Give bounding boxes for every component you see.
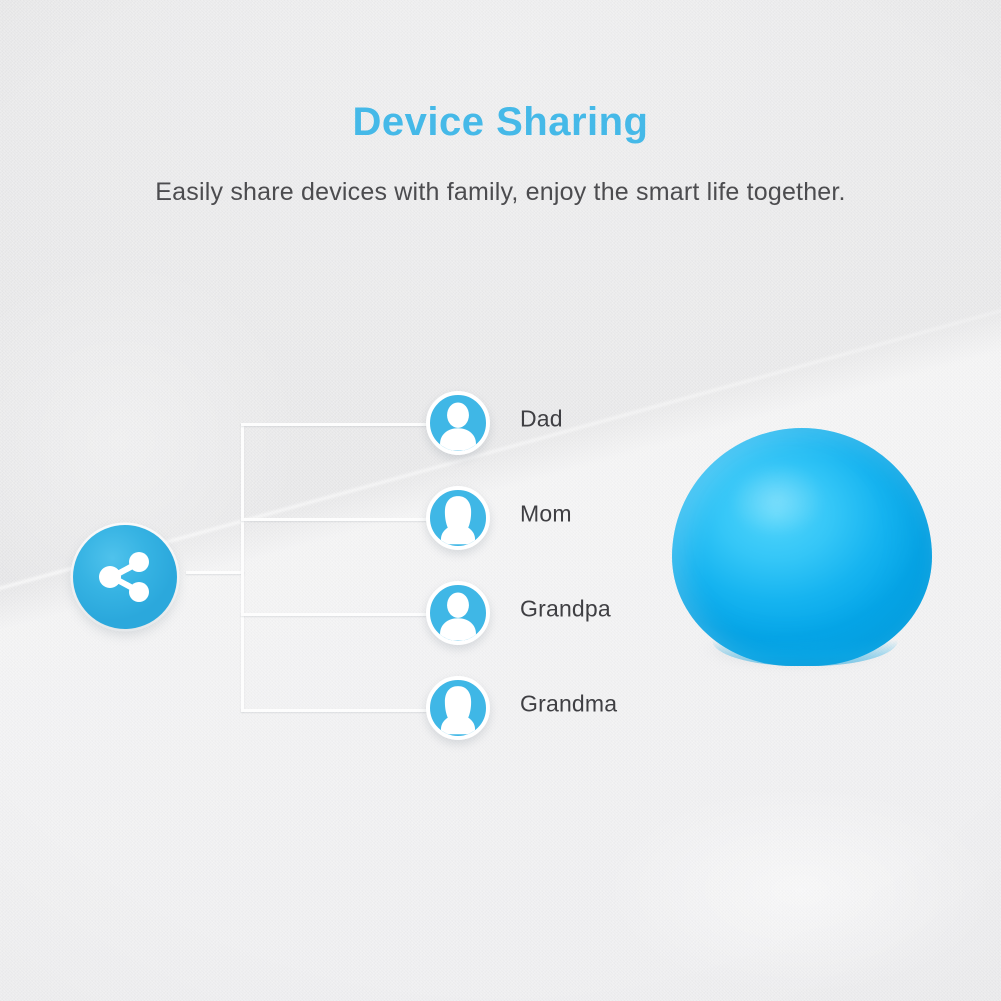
connector-trunk <box>241 423 244 711</box>
avatar-grandpa[interactable] <box>426 581 490 645</box>
share-hub-button[interactable] <box>73 525 177 629</box>
smart-ball-lamp <box>668 420 936 675</box>
connector-branch-grandpa <box>241 613 431 616</box>
avatar-label-grandma: Grandma <box>520 691 617 718</box>
avatar-grandma[interactable] <box>426 676 490 740</box>
connector-branch-dad <box>241 423 431 426</box>
avatar-dad[interactable] <box>426 391 490 455</box>
promo-banner: Device Sharing Easily share devices with… <box>0 0 1001 1001</box>
page-title: Device Sharing <box>0 100 1001 145</box>
avatar-mom[interactable] <box>426 486 490 550</box>
page-subtitle: Easily share devices with family, enjoy … <box>0 178 1001 207</box>
connector-branch-grandma <box>241 709 431 712</box>
connector-stem <box>186 571 244 574</box>
avatar-label-grandpa: Grandpa <box>520 596 611 623</box>
avatar-label-mom: Mom <box>520 501 572 528</box>
avatar-label-dad: Dad <box>520 406 563 433</box>
lamp-highlight <box>714 452 840 548</box>
connector-branch-mom <box>241 518 431 521</box>
